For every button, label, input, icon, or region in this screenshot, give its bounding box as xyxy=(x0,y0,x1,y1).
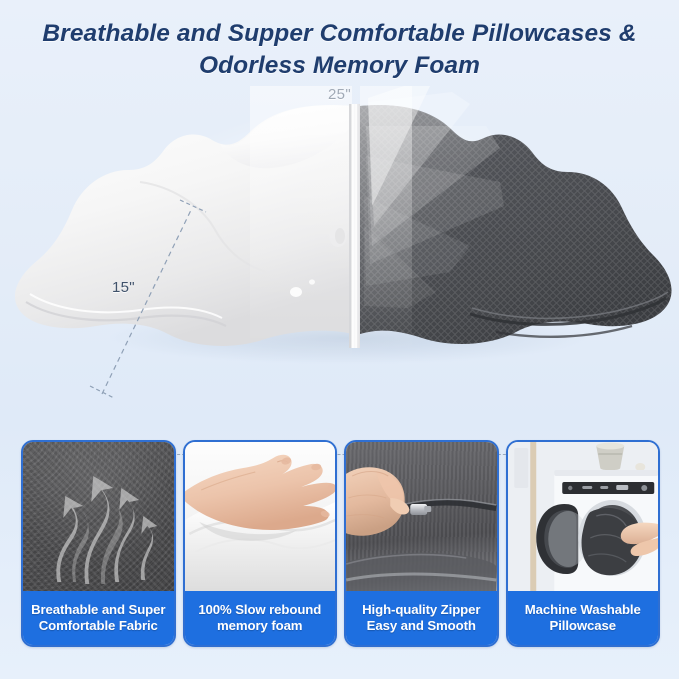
feature-label-line-2: Comfortable Fabric xyxy=(39,618,158,633)
feature-card-machine-washable[interactable]: Machine Washable Pillowcase xyxy=(506,440,661,647)
pillow-dark-cover-half xyxy=(360,86,672,356)
feature-card-label-breathable: Breathable and Super Comfortable Fabric xyxy=(23,591,174,645)
hand-shape xyxy=(346,467,409,535)
page-title: Breathable and Supper Comfortable Pillow… xyxy=(0,18,679,82)
page-title-line-1: Breathable and Supper Comfortable Pillow… xyxy=(0,18,679,50)
feature-card-label-memory-foam: 100% Slow rebound memory foam xyxy=(185,591,336,645)
hand-press-foam-icon xyxy=(185,442,336,595)
airflow-arrows-icon xyxy=(23,442,174,595)
slow-rebound-foam-photo xyxy=(185,442,336,595)
feature-card-label-zipper: High-quality Zipper Easy and Smooth xyxy=(346,591,497,645)
feature-label-line-2: Pillowcase xyxy=(550,618,616,633)
height-dimension-line xyxy=(88,196,208,401)
feature-label-line-2: memory foam xyxy=(217,618,302,633)
feature-label-line-1: Machine Washable xyxy=(525,602,641,617)
feature-label-line-1: 100% Slow rebound xyxy=(198,602,321,617)
feature-card-breathable[interactable]: Breathable and Super Comfortable Fabric xyxy=(21,440,176,647)
pillow-split-divider xyxy=(349,104,360,348)
feature-card-memory-foam[interactable]: 100% Slow rebound memory foam xyxy=(183,440,338,647)
feature-label-line-1: Breathable and Super xyxy=(31,602,165,617)
zipper-closeup-photo xyxy=(346,442,497,595)
infographic-page: Breathable and Supper Comfortable Pillow… xyxy=(0,0,679,679)
washing-machine-icon xyxy=(508,442,659,595)
feature-cards: Breathable and Super Comfortable Fabric xyxy=(21,440,660,647)
feature-label-line-1: High-quality Zipper xyxy=(362,602,480,617)
height-dimension-label: 15" xyxy=(112,279,135,296)
zipper-icon xyxy=(346,442,497,595)
feature-card-label-machine-washable: Machine Washable Pillowcase xyxy=(508,591,659,645)
hero-product-section: 15" 25" xyxy=(0,86,679,406)
feature-label-line-2: Easy and Smooth xyxy=(367,618,476,633)
breathable-fabric-photo xyxy=(23,442,174,595)
machine-wash-photo xyxy=(508,442,659,595)
feature-card-zipper[interactable]: High-quality Zipper Easy and Smooth xyxy=(344,440,499,647)
